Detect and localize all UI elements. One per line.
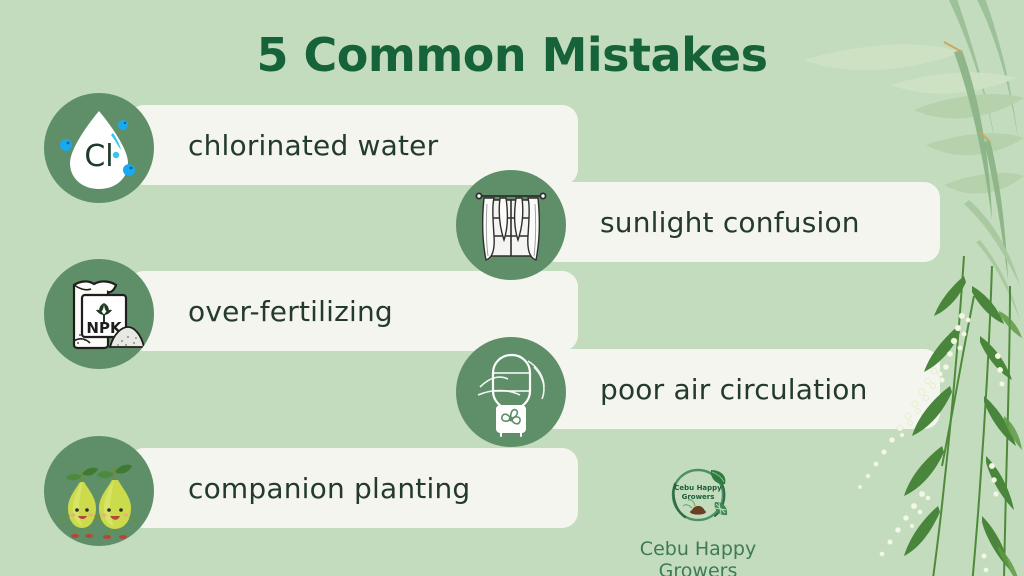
- mistake-label: chlorinated water: [188, 129, 438, 162]
- chlorine-symbol-text: Cl: [84, 139, 113, 174]
- label-pill-sunlight-confusion: sunlight confusion: [540, 182, 940, 262]
- mistake-label: companion planting: [188, 472, 470, 505]
- curtained-window-icon: [456, 170, 566, 280]
- page-title: 5 Common Mistakes: [0, 28, 1024, 82]
- label-pill-poor-air-circulation: poor air circulation: [540, 349, 940, 429]
- logo-text-line2: Growers: [682, 493, 715, 501]
- brand-logo-block: Cebu Happy Growers Cebu Happy Growers: [608, 462, 788, 576]
- chlorine-water-drop-icon: Cl: [44, 93, 154, 203]
- npk-fertilizer-bag-icon: NPK: [44, 259, 154, 369]
- logo-text-line1: Cebu Happy: [674, 484, 722, 492]
- tower-fan-icon: [456, 337, 566, 447]
- poster-canvas: 5 Common Mistakes chlorinated water Cl s…: [0, 0, 1024, 576]
- two-pears-icon: [44, 436, 154, 546]
- mistake-label: sunlight confusion: [600, 206, 860, 239]
- cebu-happy-growers-logo-mark: Cebu Happy Growers: [659, 462, 737, 534]
- label-pill-companion-planting: companion planting: [128, 448, 578, 528]
- brand-caption: Cebu Happy Growers: [608, 538, 788, 576]
- mistake-label: over-fertilizing: [188, 295, 393, 328]
- mistake-label: poor air circulation: [600, 373, 868, 406]
